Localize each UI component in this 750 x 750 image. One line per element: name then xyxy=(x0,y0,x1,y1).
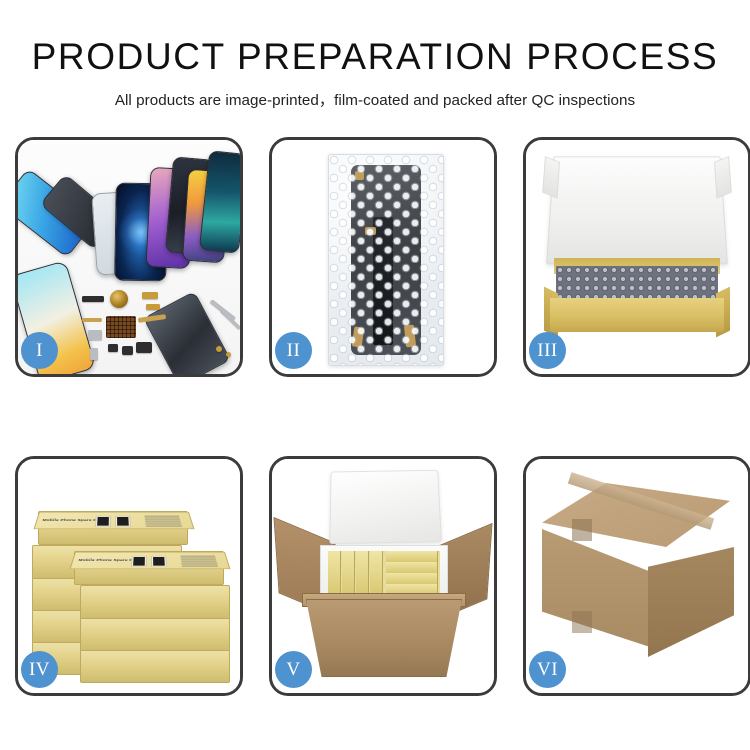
carton-seam-lower xyxy=(572,611,592,633)
speaker-coil-part xyxy=(110,290,128,308)
box-top-face: Mobile Phone Spare Parts xyxy=(70,552,231,569)
carton-seam-upper xyxy=(572,519,592,541)
box-thumbnail xyxy=(115,516,131,527)
yellow-box-row xyxy=(342,551,355,595)
yellow-box-row xyxy=(386,551,438,562)
stacked-box xyxy=(80,617,230,651)
flex-cable-part xyxy=(82,318,102,322)
page-title: PRODUCT PREPARATION PROCESS xyxy=(0,38,750,77)
button-part xyxy=(122,346,133,355)
yellow-box-row xyxy=(386,562,438,573)
logic-board-part xyxy=(106,316,136,338)
box-spec-lines xyxy=(180,556,217,567)
box-stack: Mobile Phone Spare Parts Mobile Phone Sp… xyxy=(30,477,234,681)
sim-tray-part xyxy=(90,348,98,360)
bubble-wrap-bag xyxy=(328,154,444,366)
stacked-box-printed: Mobile Phone Spare Parts xyxy=(74,551,224,585)
process-step-panel-6[interactable]: VI xyxy=(523,456,750,696)
step-badge-2: II xyxy=(275,332,312,369)
lid-side-flap-left xyxy=(542,156,560,199)
process-step-panel-5[interactable]: V xyxy=(269,456,497,696)
ic-chip-part xyxy=(108,344,118,352)
foam-lid xyxy=(329,470,442,544)
screw-set-part xyxy=(216,346,222,352)
yellow-box-row xyxy=(328,551,341,595)
yellow-boxes-inside xyxy=(328,551,440,595)
connector-part xyxy=(142,292,158,299)
carton-body xyxy=(306,599,462,677)
screw-set-part xyxy=(226,352,231,357)
step-badge-3: III xyxy=(529,332,566,369)
step-badge-6: VI xyxy=(529,651,566,688)
box-thumbnail xyxy=(95,516,111,527)
bracket-part xyxy=(88,330,102,340)
lid-side-flap-right xyxy=(714,156,732,199)
yellow-box-row xyxy=(386,573,438,584)
stacked-box-printed: Mobile Phone Spare Parts xyxy=(38,511,188,545)
carton-face-side xyxy=(648,547,734,657)
page-header: PRODUCT PREPARATION PROCESS All products… xyxy=(0,0,750,110)
box-top-face: Mobile Phone Spare Parts xyxy=(34,512,195,529)
connector-part xyxy=(146,304,160,310)
process-step-panel-1[interactable]: I xyxy=(15,137,243,377)
process-step-panel-3[interactable]: III xyxy=(523,137,750,377)
process-step-panel-4[interactable]: Mobile Phone Spare Parts Mobile Phone Sp… xyxy=(15,456,243,696)
process-step-panel-2[interactable]: II xyxy=(269,137,497,377)
box-thumbnail xyxy=(151,556,167,567)
box-thumbnail xyxy=(131,556,147,567)
camera-module-part xyxy=(82,296,104,302)
step-badge-5: V xyxy=(275,651,312,688)
stacked-box xyxy=(80,649,230,683)
yellow-box-row xyxy=(356,551,369,595)
taptic-engine-part xyxy=(136,342,152,353)
kraft-box-front xyxy=(550,298,724,332)
carton-face-front xyxy=(542,529,650,647)
step-badge-4: IV xyxy=(21,651,58,688)
page-subtitle: All products are image-printed，film-coat… xyxy=(0,88,750,110)
stacked-box xyxy=(80,585,230,619)
step-badge-1: I xyxy=(21,332,58,369)
box-lid-flap xyxy=(546,156,728,264)
bubble-texture xyxy=(329,155,443,365)
box-spec-lines xyxy=(144,516,181,527)
process-step-grid: I II xyxy=(15,137,737,696)
yellow-box-row xyxy=(370,551,383,595)
